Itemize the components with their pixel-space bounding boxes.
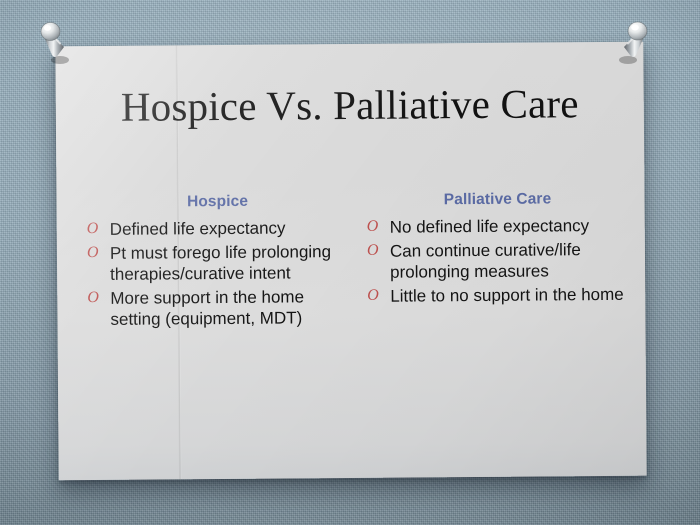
- list-item-text: More support in the home setting (equipm…: [110, 288, 304, 330]
- list-item-text: Pt must forego life prolonging therapies…: [110, 242, 331, 284]
- bullet-o-icon: O: [87, 219, 99, 239]
- list-item-text: Little to no support in the home: [390, 285, 624, 306]
- pinned-slide-sheet: Hospice Vs. Palliative Care Hospice O De…: [55, 42, 646, 481]
- bullet-o-icon: O: [367, 286, 379, 306]
- list-item: O Defined life expectancy: [85, 217, 351, 240]
- column-palliative-care: Palliative Care O No defined life expect…: [364, 190, 631, 331]
- list-item: O Can continue curative/life prolonging …: [365, 239, 631, 283]
- slide-paper: Hospice Vs. Palliative Care Hospice O De…: [55, 42, 646, 481]
- list-item-text: Can continue curative/life prolonging me…: [390, 240, 581, 282]
- list-item: O Little to no support in the home: [365, 284, 631, 307]
- list-item: O Pt must forego life prolonging therapi…: [85, 241, 351, 285]
- list-item-text: Defined life expectancy: [110, 219, 286, 239]
- bullet-list-palliative-care: O No defined life expectancy O Can conti…: [365, 215, 632, 307]
- list-item: O No defined life expectancy: [365, 215, 631, 238]
- page-title: Hospice Vs. Palliative Care: [56, 82, 644, 130]
- bullet-o-icon: O: [87, 288, 99, 308]
- column-heading-palliative-care: Palliative Care: [364, 190, 630, 210]
- bullet-list-hospice: O Defined life expectancy O Pt must fore…: [85, 217, 352, 330]
- column-hospice: Hospice O Defined life expectancy O Pt m…: [84, 192, 351, 333]
- bullet-o-icon: O: [367, 241, 379, 261]
- corkboard-background: Hospice Vs. Palliative Care Hospice O De…: [0, 0, 700, 525]
- list-item: O More support in the home setting (equi…: [85, 286, 351, 330]
- list-item-text: No defined life expectancy: [390, 216, 590, 237]
- bullet-o-icon: O: [367, 217, 379, 237]
- comparison-columns: Hospice O Defined life expectancy O Pt m…: [84, 190, 631, 334]
- bullet-o-icon: O: [87, 243, 99, 263]
- column-heading-hospice: Hospice: [84, 192, 350, 212]
